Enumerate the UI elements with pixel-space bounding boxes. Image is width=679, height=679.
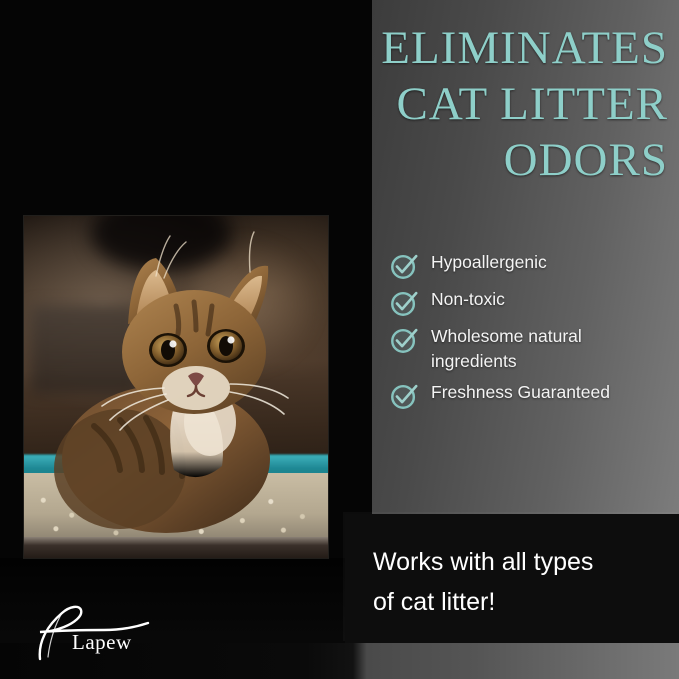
feature-item: Wholesome natural ingredients	[389, 324, 674, 374]
feature-item: Non-toxic	[389, 287, 674, 318]
check-circle-icon	[389, 325, 419, 355]
feature-item: Hypoallergenic	[389, 250, 674, 281]
check-circle-icon	[389, 288, 419, 318]
headline-line-2: CAT LITTER	[108, 76, 668, 132]
headline-line-3: ODORS	[108, 132, 668, 188]
kitten-photo	[24, 216, 328, 558]
feature-item: Freshness Guaranteed	[389, 380, 674, 411]
headline-line-1: ELIMINATES	[108, 20, 668, 76]
feature-label: Freshness Guaranteed	[431, 380, 610, 405]
feature-list: Hypoallergenic Non-toxic Wholesome n	[389, 250, 674, 417]
advertisement-canvas: ELIMINATES CAT LITTER ODORS Hypoallergen…	[0, 0, 679, 679]
promo-line-1: Works with all types	[373, 542, 653, 582]
feature-label: Hypoallergenic	[431, 250, 547, 275]
feature-label: Non-toxic	[431, 287, 505, 312]
promo-text: Works with all types of cat litter!	[373, 542, 653, 622]
promo-box: Works with all types of cat litter!	[345, 514, 679, 643]
check-circle-icon	[389, 381, 419, 411]
headline: ELIMINATES CAT LITTER ODORS	[108, 20, 668, 188]
brand-logo: Lapew	[26, 599, 161, 663]
promo-line-2: of cat litter!	[373, 582, 653, 622]
check-circle-icon	[389, 251, 419, 281]
brand-name: Lapew	[72, 630, 132, 655]
feature-label: Wholesome natural ingredients	[431, 324, 661, 374]
